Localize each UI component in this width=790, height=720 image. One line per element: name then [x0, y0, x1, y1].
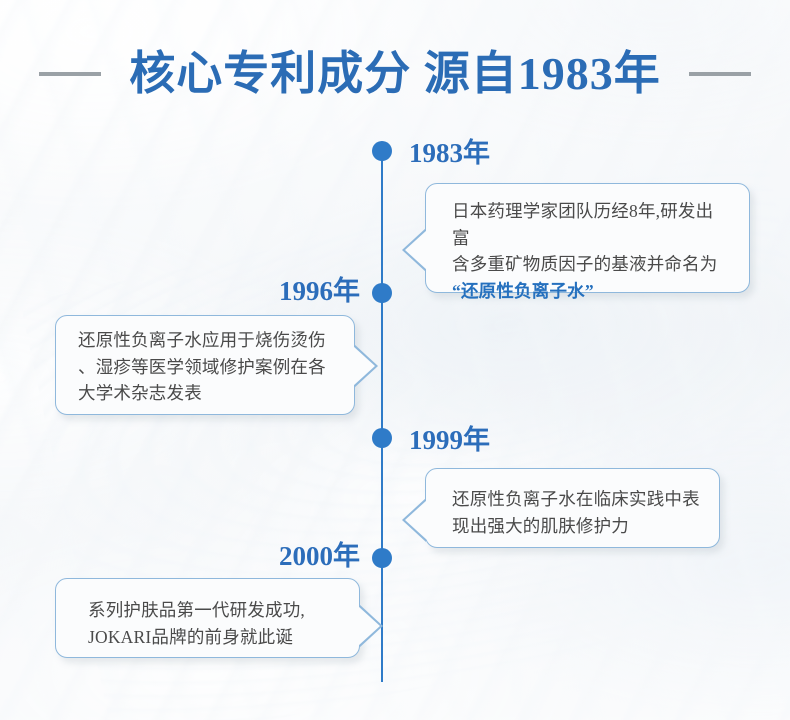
header-rule-right	[689, 72, 751, 76]
bubble-1996-line-3: 大学术杂志发表	[78, 380, 340, 407]
bubble-1996-line-1: 还原性负离子水应用于烧伤烫伤	[78, 327, 340, 354]
bubble-2000-line-1: 系列护肤品第一代研发成功,	[88, 597, 345, 624]
timeline-bubble-1996-text: 还原性负离子水应用于烧伤烫伤 、湿疹等医学领域修护案例在各 大学术杂志发表	[78, 327, 340, 407]
bubble-1983-line-3: “还原性负离子水”	[452, 278, 731, 305]
year-label-1996: 1996年	[279, 278, 360, 305]
year-label-2000: 2000年	[279, 543, 360, 570]
bubble-1983-line-1: 日本药理学家团队历经8年,研发出富	[452, 198, 731, 251]
timeline-dot-1983	[372, 141, 392, 161]
bubble-1996-line-2: 、湿疹等医学领域修护案例在各	[78, 354, 340, 381]
timeline-bubble-1996: 还原性负离子水应用于烧伤烫伤 、湿疹等医学领域修护案例在各 大学术杂志发表	[55, 315, 355, 415]
timeline-bubble-2000-text: 系列护肤品第一代研发成功, JOKARI品牌的前身就此诞	[88, 597, 345, 650]
bubble-2000-line-2: JOKARI品牌的前身就此诞	[88, 624, 345, 651]
bubble-1983-line-2: 含多重矿物质因子的基液并命名为	[452, 251, 731, 278]
year-label-1999: 1999年	[409, 427, 490, 454]
page-title: 核心专利成分 源自1983年	[129, 51, 661, 97]
timeline-dot-2000	[372, 548, 392, 568]
timeline-bubble-1983-text: 日本药理学家团队历经8年,研发出富 含多重矿物质因子的基液并命名为 “还原性负离…	[452, 198, 731, 304]
year-label-1983: 1983年	[409, 140, 490, 167]
timeline-dot-1999	[372, 428, 392, 448]
timeline-bubble-1999: 还原性负离子水在临床实践中表 现出强大的肌肤修护力	[425, 468, 720, 548]
header-rule-left	[39, 72, 101, 76]
bubble-arrow-2000-fill	[358, 606, 380, 646]
timeline-spine	[381, 150, 383, 682]
timeline-bubble-1983: 日本药理学家团队历经8年,研发出富 含多重矿物质因子的基液并命名为 “还原性负离…	[425, 183, 750, 293]
bubble-1999-line-2: 现出强大的肌肤修护力	[452, 513, 701, 540]
timeline-bubble-2000: 系列护肤品第一代研发成功, JOKARI品牌的前身就此诞	[55, 578, 360, 658]
page-header: 核心专利成分 源自1983年	[0, 38, 790, 110]
bubble-arrow-1983-fill	[405, 230, 427, 270]
bubble-arrow-1996-fill	[353, 346, 375, 386]
bubble-1999-line-1: 还原性负离子水在临床实践中表	[452, 486, 701, 513]
bubble-arrow-1999-fill	[405, 500, 427, 540]
infographic-canvas: 核心专利成分 源自1983年 1983年 日本药理学家团队历经8年,研发出富 含…	[0, 0, 790, 720]
timeline-dot-1996	[372, 283, 392, 303]
timeline-bubble-1999-text: 还原性负离子水在临床实践中表 现出强大的肌肤修护力	[452, 486, 701, 539]
